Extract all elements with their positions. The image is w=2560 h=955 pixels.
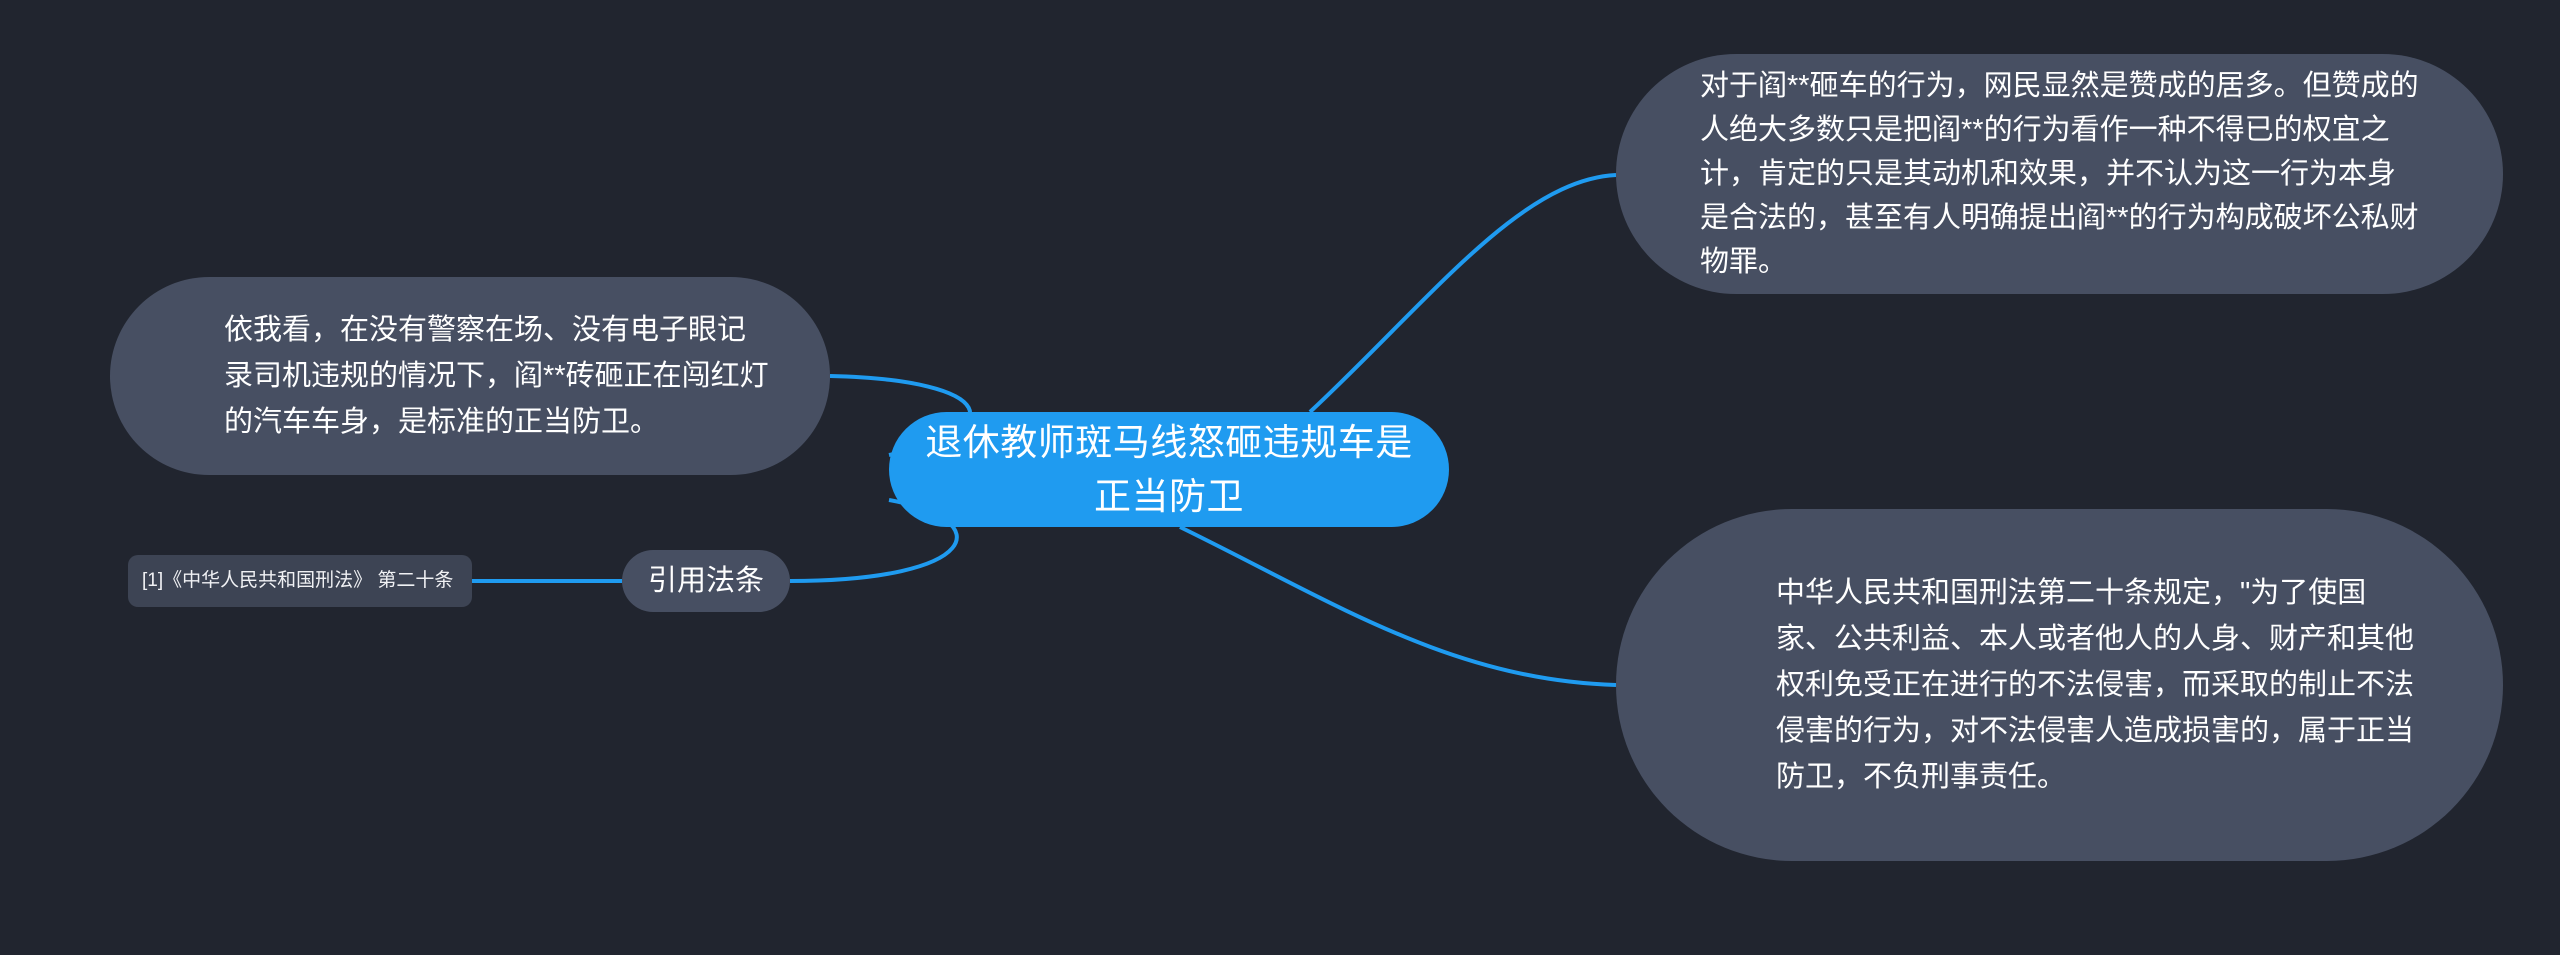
mindmap-canvas: 依我看，在没有警察在场、没有电子眼记录司机违规的情况下，阎**砖砸正在闯红灯的汽… [0, 0, 2560, 955]
branch-node-left-opinion[interactable]: 依我看，在没有警察在场、没有电子眼记录司机违规的情况下，阎**砖砸正在闯红灯的汽… [110, 277, 830, 475]
branch-label-netizen-opinion: 对于阎**砸车的行为，网民显然是赞成的居多。但赞成的人绝大多数只是把阎**的行为… [1700, 64, 2423, 284]
branch-node-criminal-law[interactable]: 中华人民共和国刑法第二十条规定，"为了使国家、公共利益、本人或者他人的人身、财产… [1616, 509, 2503, 861]
branch-label-law-reference: 引用法条 [622, 564, 790, 598]
connector-central-to-criminal-law [1180, 527, 1616, 685]
citation-label: [1]《中华人民共和国刑法》 第二十条 [142, 567, 458, 595]
citation-node[interactable]: [1]《中华人民共和国刑法》 第二十条 [128, 555, 472, 607]
central-topic-label: 退休教师斑马线怒砸违规车是正当防卫 [923, 416, 1415, 524]
branch-label-left-opinion: 依我看，在没有警察在场、没有电子眼记录司机违规的情况下，阎**砖砸正在闯红灯的汽… [224, 307, 770, 445]
central-topic-node[interactable]: 退休教师斑马线怒砸违规车是正当防卫 [889, 412, 1449, 527]
branch-label-criminal-law: 中华人民共和国刑法第二十条规定，"为了使国家、公共利益、本人或者他人的人身、财产… [1776, 570, 2423, 800]
branch-node-law-reference[interactable]: 引用法条 [622, 550, 790, 612]
branch-node-netizen-opinion[interactable]: 对于阎**砸车的行为，网民显然是赞成的居多。但赞成的人绝大多数只是把阎**的行为… [1616, 54, 2503, 294]
connector-central-to-netizen-opinion [1310, 175, 1616, 412]
